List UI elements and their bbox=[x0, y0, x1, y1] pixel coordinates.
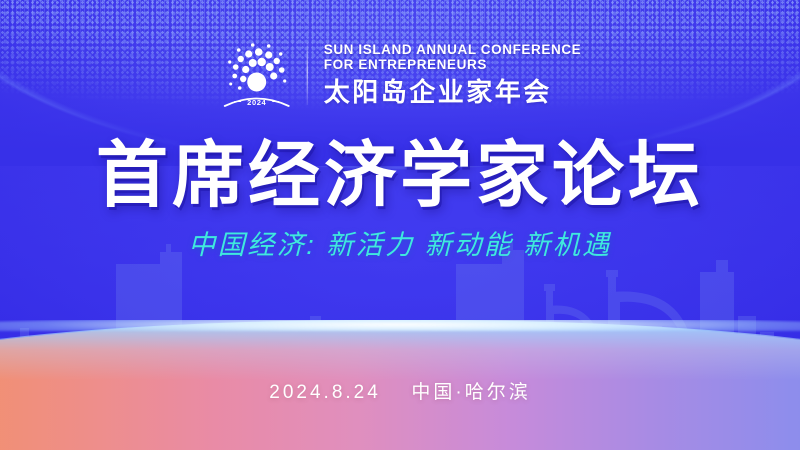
page-title: 首席经济学家论坛 bbox=[0, 136, 800, 216]
hill-crest-glow bbox=[0, 320, 800, 331]
event-date: 2024.8.24 bbox=[269, 382, 381, 403]
page-subtitle: 中国经济: 新活力 新动能 新机遇 bbox=[0, 228, 800, 262]
event-location: 中国·哈尔滨 bbox=[411, 382, 530, 403]
logo-chinese-name: 太阳岛企业家年会 bbox=[324, 77, 582, 107]
logo-english-name: SUN ISLAND ANNUAL CONFERENCE FOR ENTREPR… bbox=[324, 42, 582, 73]
conference-logo-lockup: 2024 SUN ISLAND ANNUAL CONFERENCE FOR EN… bbox=[219, 34, 582, 114]
logo-year-label: 2024 bbox=[247, 98, 266, 107]
sun-island-dots-icon: 2024 bbox=[219, 34, 295, 114]
date-location-line: 2024.8.24 中国·哈尔滨 bbox=[0, 381, 800, 405]
logo-text-block: SUN ISLAND ANNUAL CONFERENCE FOR ENTREPR… bbox=[320, 42, 582, 107]
conference-poster: 2024 SUN ISLAND ANNUAL CONFERENCE FOR EN… bbox=[0, 0, 800, 450]
logo-divider bbox=[307, 43, 308, 105]
